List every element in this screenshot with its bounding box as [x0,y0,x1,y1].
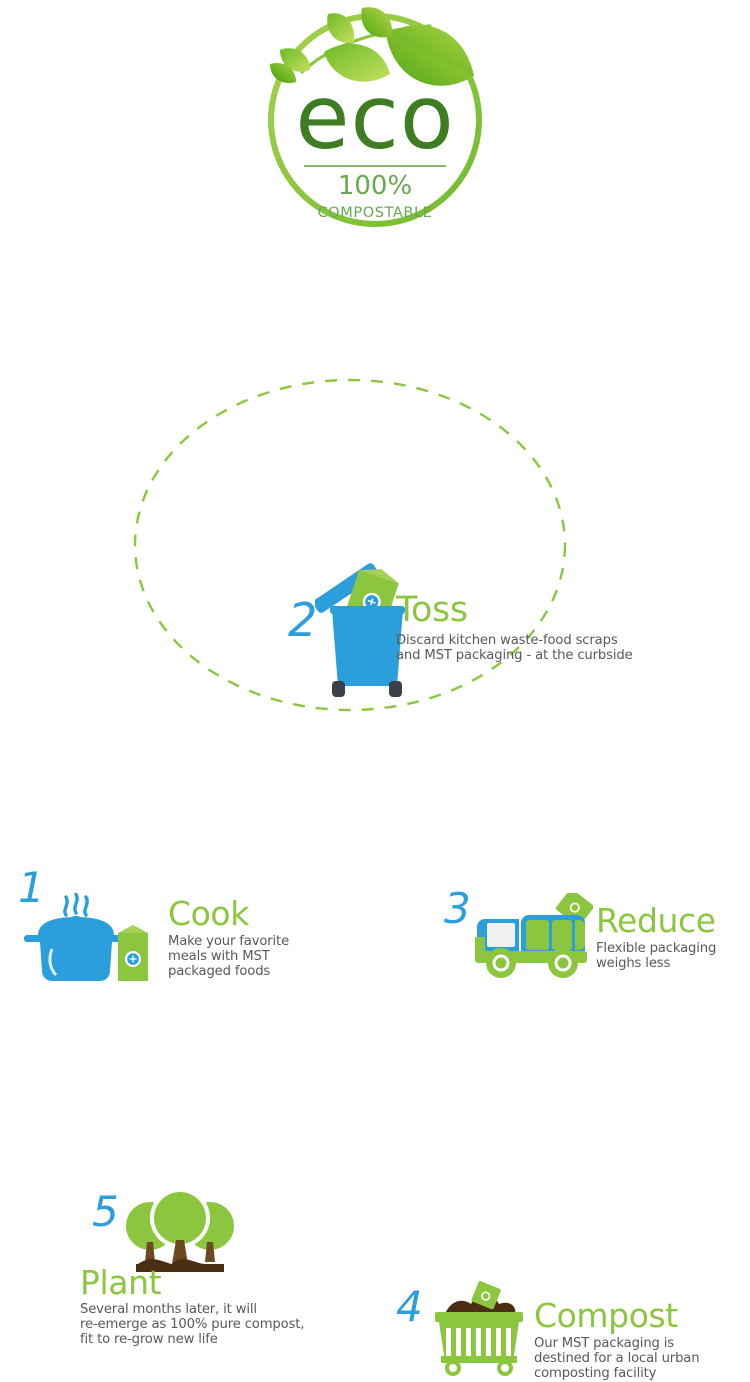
pot-lid [38,917,114,935]
step-cook-text: Cook Make your favorite meals with MST p… [168,897,289,980]
step-desc-compost: Our MST packaging is destined for a loca… [534,1336,699,1382]
infographic-canvas: eco 100% COMPOSTABLE 2 [0,0,750,779]
step-compost-text: Compost Our MST packaging is destined fo… [534,1299,699,1382]
step-number-5: 5 [92,1191,118,1233]
step-title-compost: Compost [534,1299,699,1332]
logo-wordmark: eco [295,66,454,169]
step-plant-text: Plant Several months later, it will re-e… [80,1266,304,1348]
tree-canopy-center [154,1192,206,1244]
step-number-3: 3 [444,888,470,930]
step-desc-cook: Make your favorite meals with MST packag… [168,934,289,980]
compost-rim [435,1312,523,1322]
truck-window [487,923,515,947]
step-reduce-text: Reduce Flexible packaging weighs less [596,904,716,971]
step-toss: 2 [0,275,750,425]
step-title-reduce: Reduce [596,904,716,937]
step-number-4: 4 [396,1286,422,1328]
mst-packet-icon [118,925,148,981]
logo-percent: 100% [338,171,412,201]
compost-bin-icon [427,1276,531,1380]
steam-icon [65,894,87,915]
step-desc-reduce: Flexible packaging weighs less [596,941,716,971]
eco-compostable-logo: eco 100% COMPOSTABLE [262,2,488,238]
step-desc-plant: Several months later, it will re-emerge … [80,1302,304,1348]
cooking-pot-icon [22,893,154,983]
step-plant: 5 Plant Several months [0,590,400,779]
step-cook: 1 [0,430,400,560]
step-title-plant: Plant [80,1266,304,1299]
pot-handle [24,935,128,942]
trees-icon [126,1184,234,1276]
garbage-truck-icon [471,893,593,985]
logo-caption: COMPOSTABLE [318,205,433,221]
step-title-cook: Cook [168,897,289,930]
step-title-toss: Toss [396,593,633,628]
